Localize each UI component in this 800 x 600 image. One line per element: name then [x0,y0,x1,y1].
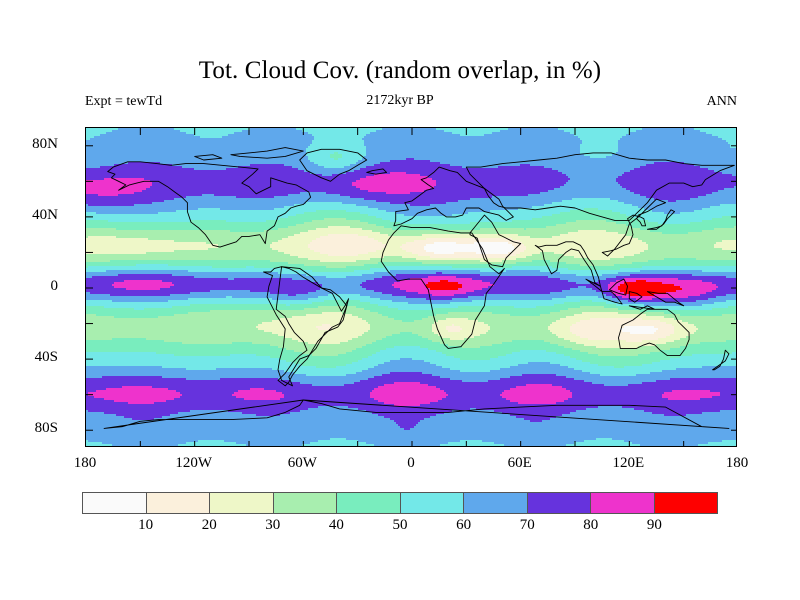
latitude-tick-label: 40N [0,208,58,223]
climate-map-figure: Tot. Cloud Cov. (random overlap, in %) 2… [0,0,800,600]
longitude-tick-label: 120W [154,456,234,471]
experiment-label: Expt = tewTd [85,93,162,111]
colorbar-tick-label: 60 [434,516,494,534]
colorbar-tick-label: 40 [306,516,366,534]
colorbar-band [83,493,147,513]
latitude-tick-label: 0 [0,279,58,294]
longitude-tick-label: 60W [262,456,342,471]
longitude-tick-label: 180 [45,456,125,471]
colorbar-band [464,493,528,513]
latitude-tick-label: 80S [0,421,58,436]
colorbar-band [591,493,655,513]
longitude-tick-label: 60E [480,456,560,471]
colorbar-tick-label: 90 [624,516,684,534]
colorbar-tick-label: 50 [370,516,430,534]
latitude-tick-label: 80N [0,137,58,152]
page-title: Tot. Cloud Cov. (random overlap, in %) [0,56,800,86]
longitude-tick-label: 120E [588,456,668,471]
colorbar-tick-label: 20 [179,516,239,534]
longitude-tick-label: 0 [371,456,451,471]
colorbar-band [528,493,592,513]
colorbar-band [147,493,211,513]
cloud-cover-contour-field [86,128,737,447]
colorbar-band [655,493,718,513]
season-label: ANN [707,93,737,111]
colorbar-tick-label: 80 [561,516,621,534]
map-plot-area [85,127,737,447]
colorbar-band [401,493,465,513]
colorbar-tick-label: 70 [497,516,557,534]
longitude-tick-label: 180 [697,456,777,471]
colorbar-tick-label: 30 [243,516,303,534]
latitude-tick-label: 40S [0,350,58,365]
colorbar-band [210,493,274,513]
colorbar [82,492,718,514]
colorbar-band [337,493,401,513]
colorbar-tick-label: 10 [116,516,176,534]
colorbar-band [274,493,338,513]
